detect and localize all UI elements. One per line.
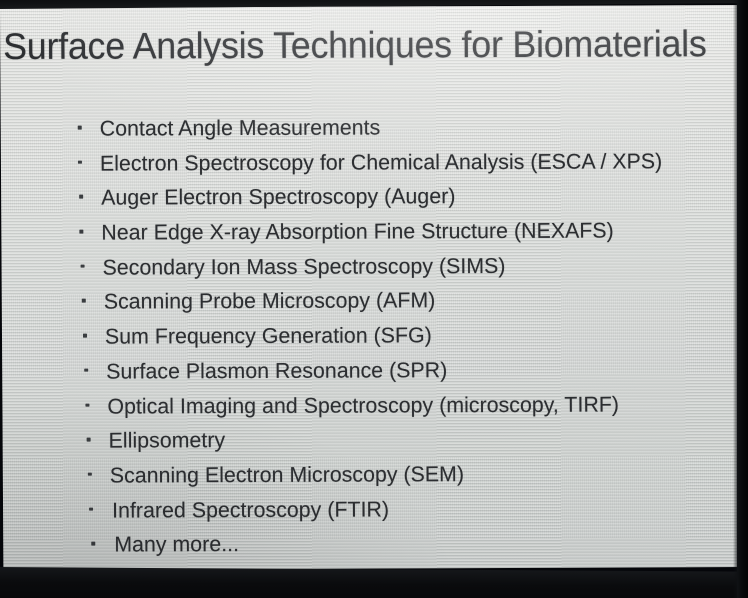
list-item: Scanning Probe Microscopy (AFM) bbox=[2, 284, 742, 322]
list-item-label: Contact Angle Measurements bbox=[100, 113, 381, 142]
list-item: Infrared Spectroscopy (FTIR) bbox=[3, 493, 743, 531]
list-item-label: Optical Imaging and Spectroscopy (micros… bbox=[107, 390, 619, 420]
square-bullet-icon bbox=[88, 473, 92, 477]
square-bullet-icon bbox=[82, 299, 86, 303]
list-item-label: Secondary Ion Mass Spectroscopy (SIMS) bbox=[103, 252, 506, 282]
square-bullet-icon bbox=[87, 438, 91, 442]
list-item: Scanning Electron Microscopy (SEM) bbox=[3, 458, 743, 496]
square-bullet-icon bbox=[81, 264, 85, 268]
list-item: Many more... bbox=[3, 527, 743, 565]
list-item: Ellipsometry bbox=[3, 423, 743, 461]
list-item-label: Sum Frequency Generation (SFG) bbox=[105, 321, 432, 350]
square-bullet-icon bbox=[78, 160, 82, 164]
list-item: Optical Imaging and Spectroscopy (micros… bbox=[2, 389, 742, 427]
list-item-label: Ellipsometry bbox=[109, 426, 226, 454]
square-bullet-icon bbox=[89, 507, 93, 511]
slide-photo: Surface Analysis Techniques for Biomater… bbox=[0, 0, 748, 598]
list-item-label: Many more... bbox=[114, 530, 239, 559]
list-item: Near Edge X-ray Absorption Fine Structur… bbox=[1, 215, 741, 253]
list-item: Secondary Ion Mass Spectroscopy (SIMS) bbox=[1, 250, 741, 288]
list-item: Surface Plasmon Resonance (SPR) bbox=[2, 354, 742, 392]
list-item-label: Near Edge X-ray Absorption Fine Structur… bbox=[101, 217, 614, 247]
list-item-label: Surface Plasmon Resonance (SPR) bbox=[106, 356, 447, 385]
square-bullet-icon bbox=[84, 368, 88, 372]
technique-bullet-list: Contact Angle Measurements Electron Spec… bbox=[1, 111, 744, 565]
square-bullet-icon bbox=[91, 542, 95, 546]
list-item-label: Scanning Probe Microscopy (AFM) bbox=[104, 287, 436, 316]
square-bullet-icon bbox=[83, 334, 87, 338]
slide-title: Surface Analysis Techniques for Biomater… bbox=[3, 21, 713, 70]
square-bullet-icon bbox=[79, 230, 83, 234]
list-item: Electron Spectroscopy for Chemical Analy… bbox=[1, 146, 741, 184]
list-item: Auger Electron Spectroscopy (Auger) bbox=[1, 180, 741, 218]
list-item-label: Electron Spectroscopy for Chemical Analy… bbox=[100, 147, 662, 177]
list-item-label: Scanning Electron Microscopy (SEM) bbox=[110, 460, 464, 489]
list-item: Sum Frequency Generation (SFG) bbox=[2, 319, 742, 357]
list-item-label: Infrared Spectroscopy (FTIR) bbox=[112, 495, 389, 524]
list-item-label: Auger Electron Spectroscopy (Auger) bbox=[101, 183, 455, 212]
square-bullet-icon bbox=[85, 403, 89, 407]
square-bullet-icon bbox=[78, 126, 82, 130]
bezel-band-right bbox=[737, 0, 748, 598]
list-item: Contact Angle Measurements bbox=[1, 111, 741, 149]
bezel-band-bottom bbox=[0, 567, 748, 598]
projection-screen: Surface Analysis Techniques for Biomater… bbox=[0, 5, 743, 570]
presentation-slide: Surface Analysis Techniques for Biomater… bbox=[0, 5, 743, 570]
square-bullet-icon bbox=[79, 195, 83, 199]
